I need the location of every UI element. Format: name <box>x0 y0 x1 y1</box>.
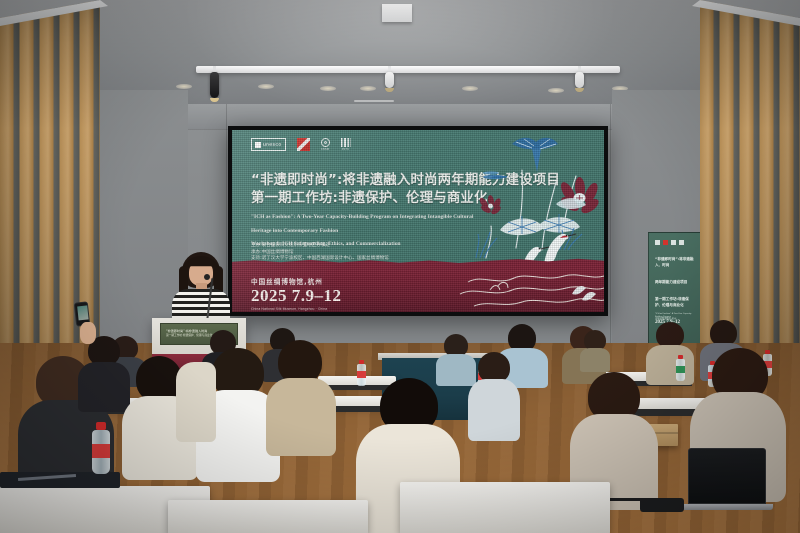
poster-logos <box>655 240 701 245</box>
laptop[interactable] <box>688 448 773 510</box>
footer-venue-cn: 中国丝绸博物馆,杭州 <box>251 276 342 286</box>
led-screen: unesco CNSM ZSTU “非遗即时尚”:将非遗融入时尚两年期能力建设项… <box>232 130 604 312</box>
lotus-flower-left <box>478 195 502 216</box>
poster-title-line-1: “非遗即时尚”:将非遗融入、时尚 <box>655 256 695 268</box>
partner-logo-icon: ZSTU <box>341 138 351 151</box>
lotus-flower-right <box>558 177 601 216</box>
poster-logo-museum-icon <box>671 240 676 245</box>
audience-person-front <box>266 340 336 450</box>
audience-person <box>176 362 216 442</box>
downlight-icon <box>462 86 478 91</box>
poster-title-line-3: 第一期工作坊:非遗保护、伦理与商业化 <box>655 296 695 308</box>
foreground-desk <box>168 500 368 533</box>
screen-logo-row: unesco CNSM ZSTU <box>251 138 351 151</box>
water-bottle-foreground <box>92 422 110 474</box>
audience-person <box>468 352 520 438</box>
poster-logo-red-icon <box>663 240 668 245</box>
wall-seam <box>610 104 611 374</box>
footer-venue-en: China National Silk Museum, Hangzhou · C… <box>251 307 342 311</box>
unesco-logo-text: unesco <box>263 142 282 148</box>
unesco-logo-icon: unesco <box>251 138 286 151</box>
led-screen-frame: unesco CNSM ZSTU “非遗即时尚”:将非遗融入时尚两年期能力建设项… <box>228 126 608 316</box>
downlight-icon <box>258 84 274 89</box>
downlight-icon <box>548 88 564 93</box>
downlight-icon <box>360 86 376 91</box>
spotlight-icon <box>385 66 394 92</box>
red-emblem-logo-icon <box>297 138 310 151</box>
footer-text-block: 中国丝绸博物馆,杭州 2025 7.9–12 China National Si… <box>251 276 342 311</box>
screen-footer-band: 中国丝绸博物馆,杭州 2025 7.9–12 China National Si… <box>232 270 604 312</box>
audience-person <box>580 330 610 370</box>
spotlight-icon <box>210 66 219 102</box>
footer-date: 2025 7.9–12 <box>251 287 342 305</box>
track-light-rail <box>196 66 620 73</box>
downlight-icon <box>320 86 336 91</box>
conference-room-photo: “非遗即时尚”:将非遗融入、时尚 两年期能力建设项目 第一期工作坊:非遗保护、伦… <box>0 0 800 533</box>
hand <box>80 322 96 344</box>
poster-logo-partner-icon <box>679 240 684 245</box>
poster-title-line-2: 两年期能力建设项目 <box>655 279 695 285</box>
dragonfly-icon <box>483 171 507 179</box>
water-bottle <box>676 355 685 381</box>
speaker-person <box>168 252 234 322</box>
downlight-icon <box>176 84 192 89</box>
ceiling-projector-box <box>382 4 412 22</box>
poster-logo-unesco-icon <box>655 240 660 245</box>
band-wave-svg <box>454 270 604 312</box>
foreground-desk <box>400 482 610 533</box>
ceiling-slot-vent <box>354 100 394 102</box>
microphone-icon <box>204 274 210 280</box>
silk-museum-logo-icon: CNSM <box>321 138 330 151</box>
spotlight-icon <box>575 66 584 92</box>
